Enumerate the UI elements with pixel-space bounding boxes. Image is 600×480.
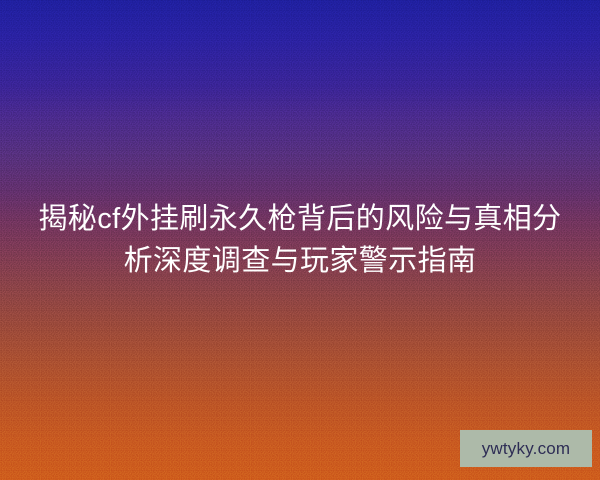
- banner-title: 揭秘cf外挂刷永久枪背后的风险与真相分 析深度调查与玩家警示指南: [0, 198, 600, 282]
- banner-image: 揭秘cf外挂刷永久枪背后的风险与真相分 析深度调查与玩家警示指南 ywtyky.…: [0, 0, 600, 480]
- watermark-badge: ywtyky.com: [460, 430, 592, 467]
- title-line-2: 析深度调查与玩家警示指南: [18, 240, 582, 282]
- title-line-1: 揭秘cf外挂刷永久枪背后的风险与真相分: [18, 198, 582, 240]
- watermark-text: ywtyky.com: [482, 440, 571, 457]
